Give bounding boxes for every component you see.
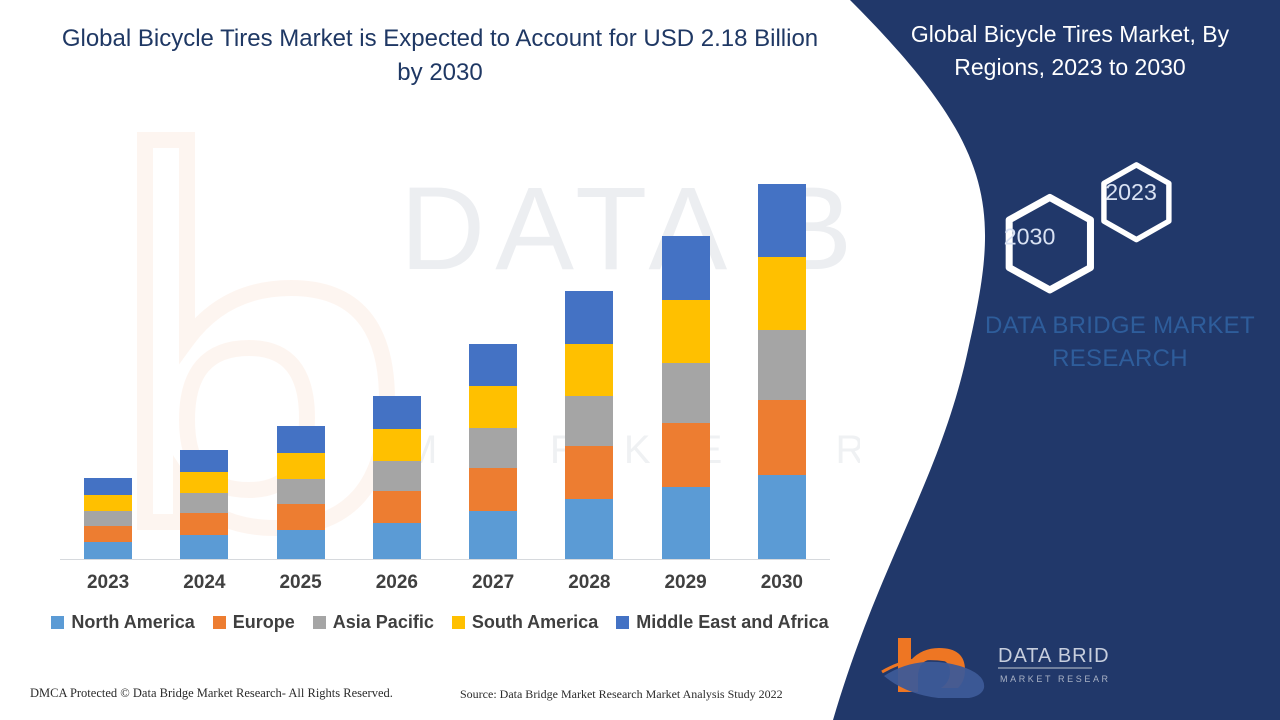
legend-swatch-icon — [51, 616, 64, 629]
bar-segment — [277, 504, 325, 530]
page-title: Global Bicycle Tires Market is Expected … — [60, 22, 820, 90]
bar-segment — [277, 453, 325, 479]
panel-brand-line-1: DATA BRIDGE MARKET — [960, 310, 1280, 343]
chart-x-axis: 20232024202520262027202820292030 — [60, 572, 830, 594]
legend-label: Middle East and Africa — [636, 612, 828, 633]
stacked-bar — [662, 236, 710, 559]
bar-column-2027 — [457, 140, 529, 559]
footer-copyright: DMCA Protected © Data Bridge Market Rese… — [30, 686, 393, 701]
bar-segment — [469, 344, 517, 386]
bar-column-2028 — [553, 140, 625, 559]
bar-segment — [565, 446, 613, 499]
bar-segment — [277, 426, 325, 453]
bar-segment — [469, 511, 517, 559]
bar-segment — [758, 257, 806, 330]
panel-brand-line-2: RESEARCH — [960, 343, 1280, 376]
x-axis-label-2029: 2029 — [650, 572, 722, 594]
bar-segment — [662, 423, 710, 487]
bar-segment — [180, 493, 228, 513]
legend-item[interactable]: North America — [51, 612, 194, 633]
bar-segment — [277, 479, 325, 504]
hexagon-label-2030: 2030 — [1004, 223, 1056, 249]
bar-segment — [180, 472, 228, 493]
stacked-bar — [180, 450, 228, 559]
bar-segment — [758, 184, 806, 257]
bar-segment — [662, 300, 710, 363]
bar-segment — [373, 396, 421, 429]
legend-swatch-icon — [616, 616, 629, 629]
hexagon-label-2023: 2023 — [1105, 179, 1157, 205]
x-axis-label-2023: 2023 — [72, 572, 144, 594]
stacked-bar — [565, 291, 613, 559]
panel-title: Global Bicycle Tires Market, By Regions,… — [885, 18, 1255, 83]
stacked-bar-chart — [40, 140, 830, 560]
legend-label: Asia Pacific — [333, 612, 434, 633]
bar-segment — [180, 513, 228, 535]
legend-item[interactable]: Asia Pacific — [313, 612, 434, 633]
bar-segment — [469, 428, 517, 468]
panel-brand-name: DATA BRIDGE MARKET RESEARCH — [960, 310, 1280, 375]
bar-column-2023 — [72, 140, 144, 559]
bar-segment — [373, 429, 421, 461]
bar-segment — [180, 450, 228, 472]
data-bridge-logo: DATA BRIDGE MARKET RESEARCH — [880, 630, 1110, 698]
bar-segment — [758, 400, 806, 475]
chart-plot-area — [60, 140, 830, 560]
bar-segment — [84, 495, 132, 511]
stacked-bar — [373, 396, 421, 559]
bar-segment — [84, 478, 132, 495]
legend-item[interactable]: Middle East and Africa — [616, 612, 828, 633]
hexagon-graphic: 2030 2023 — [975, 140, 1175, 285]
bar-segment — [469, 386, 517, 428]
bar-segment — [277, 530, 325, 559]
bar-segment — [565, 291, 613, 344]
bar-segment — [373, 523, 421, 559]
bar-column-2029 — [650, 140, 722, 559]
x-axis-label-2025: 2025 — [265, 572, 337, 594]
bar-column-2030 — [746, 140, 818, 559]
bar-segment — [662, 236, 710, 300]
legend-swatch-icon — [213, 616, 226, 629]
chart-legend: North AmericaEuropeAsia PacificSouth Ame… — [40, 612, 840, 633]
bar-segment — [373, 491, 421, 523]
bar-column-2026 — [361, 140, 433, 559]
x-axis-label-2024: 2024 — [168, 572, 240, 594]
footer-source: Source: Data Bridge Market Research Mark… — [460, 687, 783, 702]
bar-segment — [662, 363, 710, 423]
legend-swatch-icon — [452, 616, 465, 629]
stacked-bar — [84, 478, 132, 559]
bar-segment — [565, 499, 613, 559]
bar-segment — [180, 535, 228, 559]
bar-segment — [565, 396, 613, 446]
bar-segment — [758, 475, 806, 559]
x-axis-label-2026: 2026 — [361, 572, 433, 594]
bar-segment — [84, 526, 132, 542]
logo-wordmark-bottom: MARKET RESEARCH — [1000, 674, 1110, 684]
stacked-bar — [469, 344, 517, 559]
x-axis-label-2028: 2028 — [553, 572, 625, 594]
legend-label: Europe — [233, 612, 295, 633]
x-axis-label-2030: 2030 — [746, 572, 818, 594]
legend-item[interactable]: South America — [452, 612, 598, 633]
bar-segment — [469, 468, 517, 511]
bar-segment — [84, 511, 132, 526]
legend-swatch-icon — [313, 616, 326, 629]
logo-wordmark-top: DATA BRIDGE — [998, 645, 1110, 667]
legend-label: North America — [71, 612, 194, 633]
bar-column-2024 — [168, 140, 240, 559]
bar-segment — [662, 487, 710, 559]
x-axis-label-2027: 2027 — [457, 572, 529, 594]
legend-label: South America — [472, 612, 598, 633]
slide-canvas: DATA BRIDGE M A R K E T R E S E A R C H … — [0, 0, 1280, 720]
bar-segment — [84, 542, 132, 559]
legend-item[interactable]: Europe — [213, 612, 295, 633]
stacked-bar — [758, 184, 806, 559]
stacked-bar — [277, 426, 325, 559]
bar-column-2025 — [265, 140, 337, 559]
bar-segment — [758, 330, 806, 400]
bar-segment — [373, 461, 421, 491]
bar-segment — [565, 344, 613, 396]
